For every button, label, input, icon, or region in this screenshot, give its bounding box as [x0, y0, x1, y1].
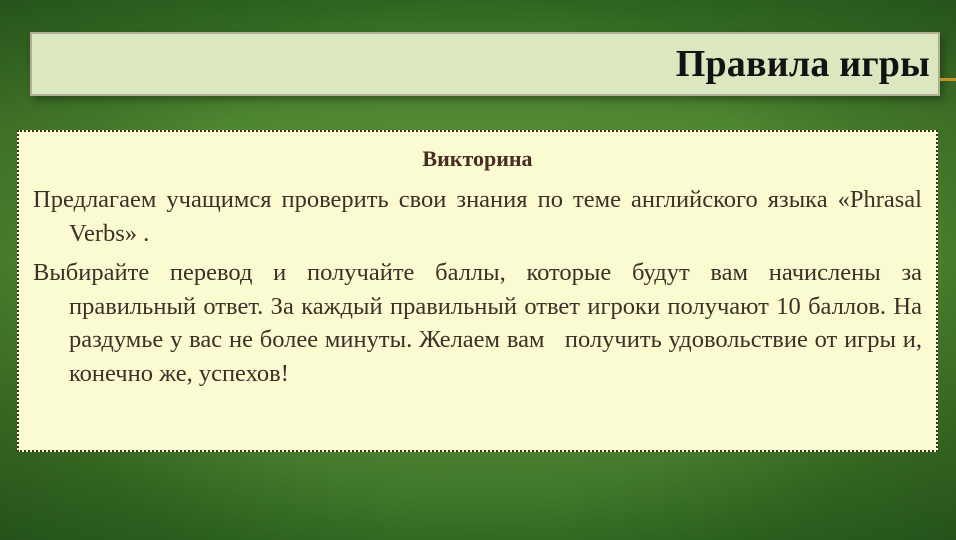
content-paragraph-2: Выбирайте перевод и получайте баллы, кот…: [33, 256, 922, 391]
content-heading: Викторина: [33, 146, 922, 171]
page-title: Правила игры: [676, 45, 938, 83]
content-paragraph-1: Предлагаем учащимся проверить свои знани…: [33, 183, 922, 251]
content-panel: Викторина Предлагаем учащимся проверить …: [17, 130, 938, 452]
slide-canvas: Правила игры Викторина Предлагаем учащим…: [0, 0, 956, 540]
title-accent-line: [940, 78, 956, 81]
slide-title-box: Правила игры: [30, 32, 940, 96]
